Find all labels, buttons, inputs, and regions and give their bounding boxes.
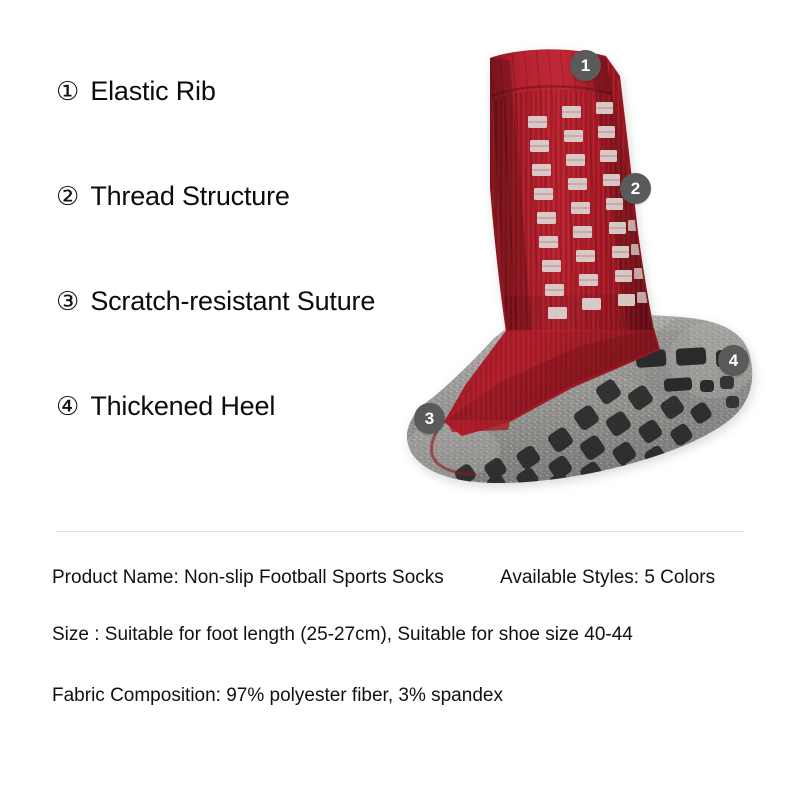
spec-row-fabric: Fabric Composition: 97% polyester fiber,…: [52, 686, 772, 726]
spec-product-name: Product Name: Non-slip Football Sports S…: [52, 567, 444, 588]
spec-fabric-composition: Fabric Composition: 97% polyester fiber,…: [52, 685, 503, 706]
sock-illustration: [390, 30, 790, 520]
circled-number-4-icon: ④: [56, 394, 79, 420]
callout-badge-1[interactable]: 1: [570, 50, 601, 81]
circled-number-2-icon: ②: [56, 184, 79, 210]
specification-list: Product Name: Non-slip Football Sports S…: [52, 568, 772, 726]
circled-number-1-icon: ①: [56, 79, 79, 105]
section-divider: [55, 531, 745, 532]
spec-row-product: Product Name: Non-slip Football Sports S…: [52, 568, 772, 625]
product-infographic: ① Elastic Rib ② Thread Structure ③ Scrat…: [0, 0, 800, 800]
feature-label-scratch-resistant-suture: Scratch-resistant Suture: [90, 288, 375, 315]
callout-badge-4[interactable]: 4: [718, 345, 749, 376]
feature-label-thickened-heel: Thickened Heel: [90, 393, 275, 420]
spec-row-size: Size : Suitable for foot length (25-27cm…: [52, 625, 772, 686]
callout-badge-2[interactable]: 2: [620, 173, 651, 204]
product-image: [390, 30, 790, 520]
feature-label-elastic-rib: Elastic Rib: [90, 78, 215, 105]
feature-label-thread-structure: Thread Structure: [90, 183, 289, 210]
spec-size: Size : Suitable for foot length (25-27cm…: [52, 624, 633, 645]
circled-number-3-icon: ③: [56, 289, 79, 315]
callout-badge-3[interactable]: 3: [414, 403, 445, 434]
spec-available-styles: Available Styles: 5 Colors: [500, 568, 715, 587]
